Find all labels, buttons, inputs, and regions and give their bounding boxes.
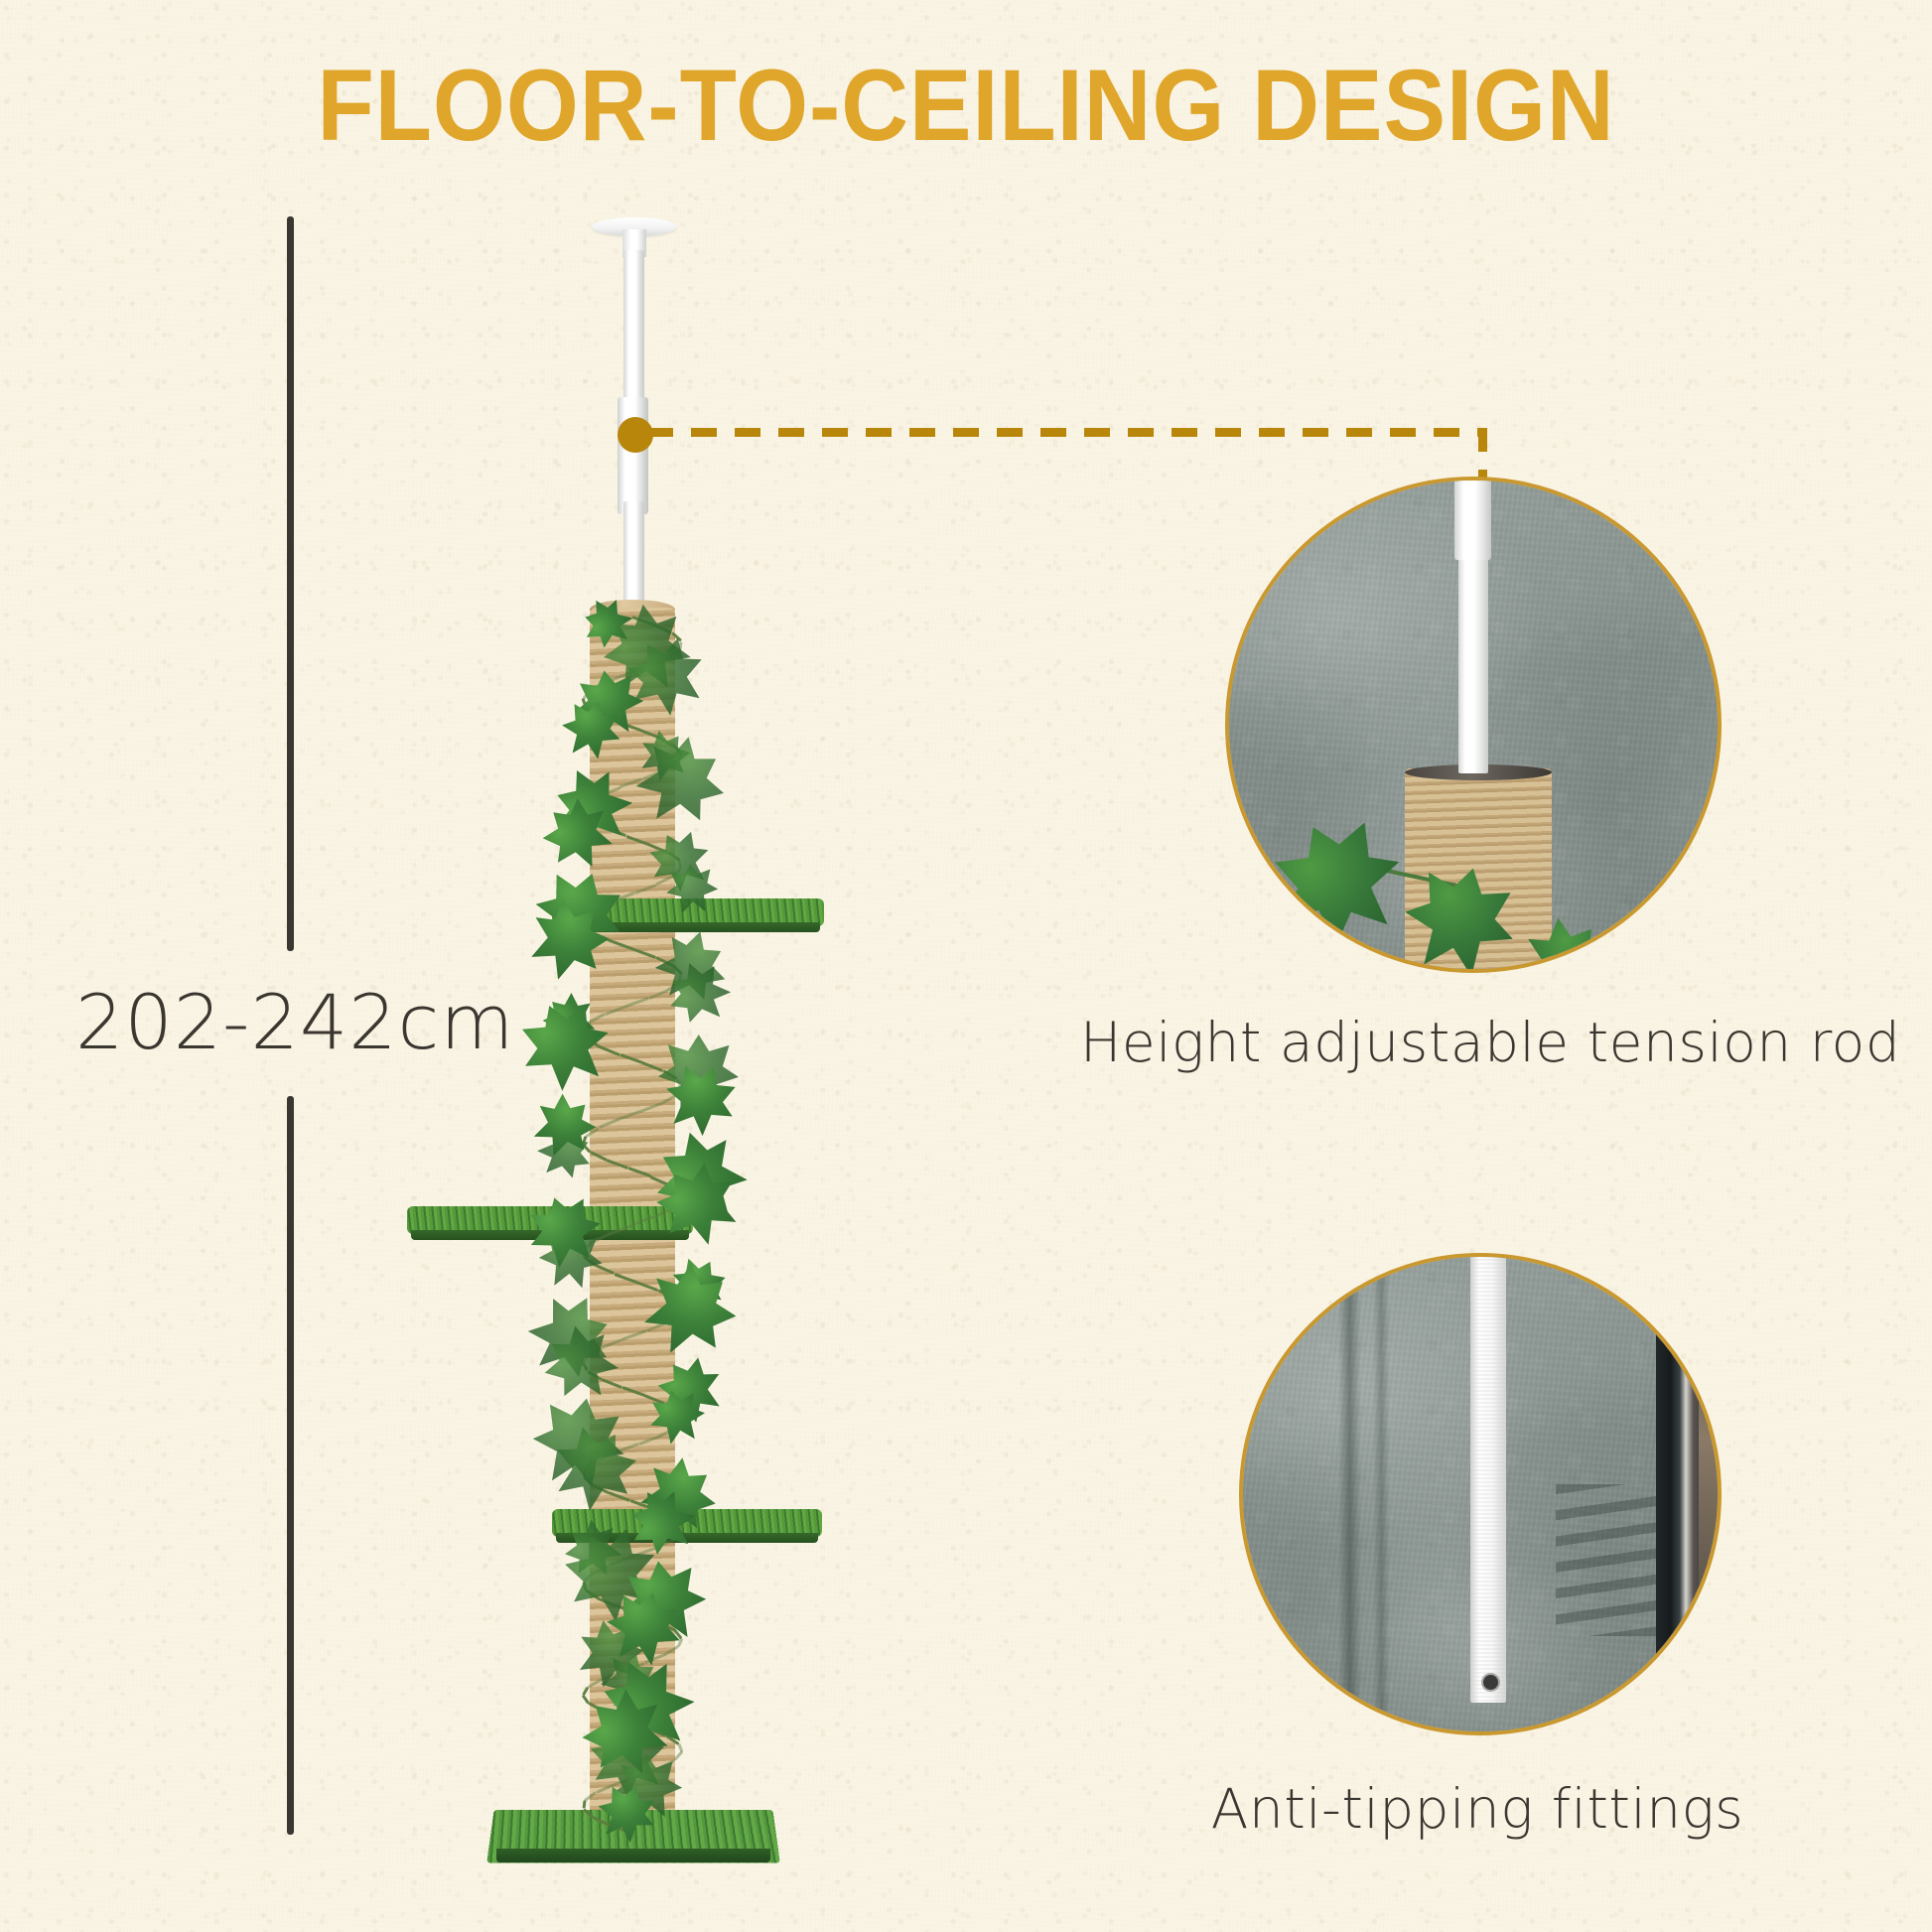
- grass-base-edge: [496, 1849, 770, 1863]
- wall-shadow-band: [1338, 1257, 1362, 1731]
- callout-caption-anti-tipping: Anti-tipping fittings: [1080, 1777, 1874, 1841]
- callout-caption-tension-rod: Height adjustable tension rod: [1080, 1011, 1874, 1074]
- dashed-line-icon-vertical: [1478, 428, 1487, 483]
- window-glass-strip: [1699, 1257, 1718, 1731]
- detail-rod-collar: [1454, 477, 1491, 560]
- infographic-canvas: FLOOR-TO-CEILING DESIGN 202-242cm: [0, 0, 1932, 1932]
- rod-lower-section: [623, 501, 644, 616]
- rod-upper-section: [623, 250, 644, 411]
- strap-screw-hole: [1483, 1675, 1498, 1690]
- rod-adjustment-joint: [618, 397, 648, 514]
- dashed-line-icon-horizontal: [647, 428, 1487, 437]
- detail-circle-tension-rod: [1225, 477, 1722, 973]
- detail-circle-anti-tipping: [1239, 1253, 1722, 1735]
- wall-shadow-band: [1373, 1257, 1390, 1731]
- anti-tipping-strap: [1470, 1253, 1506, 1703]
